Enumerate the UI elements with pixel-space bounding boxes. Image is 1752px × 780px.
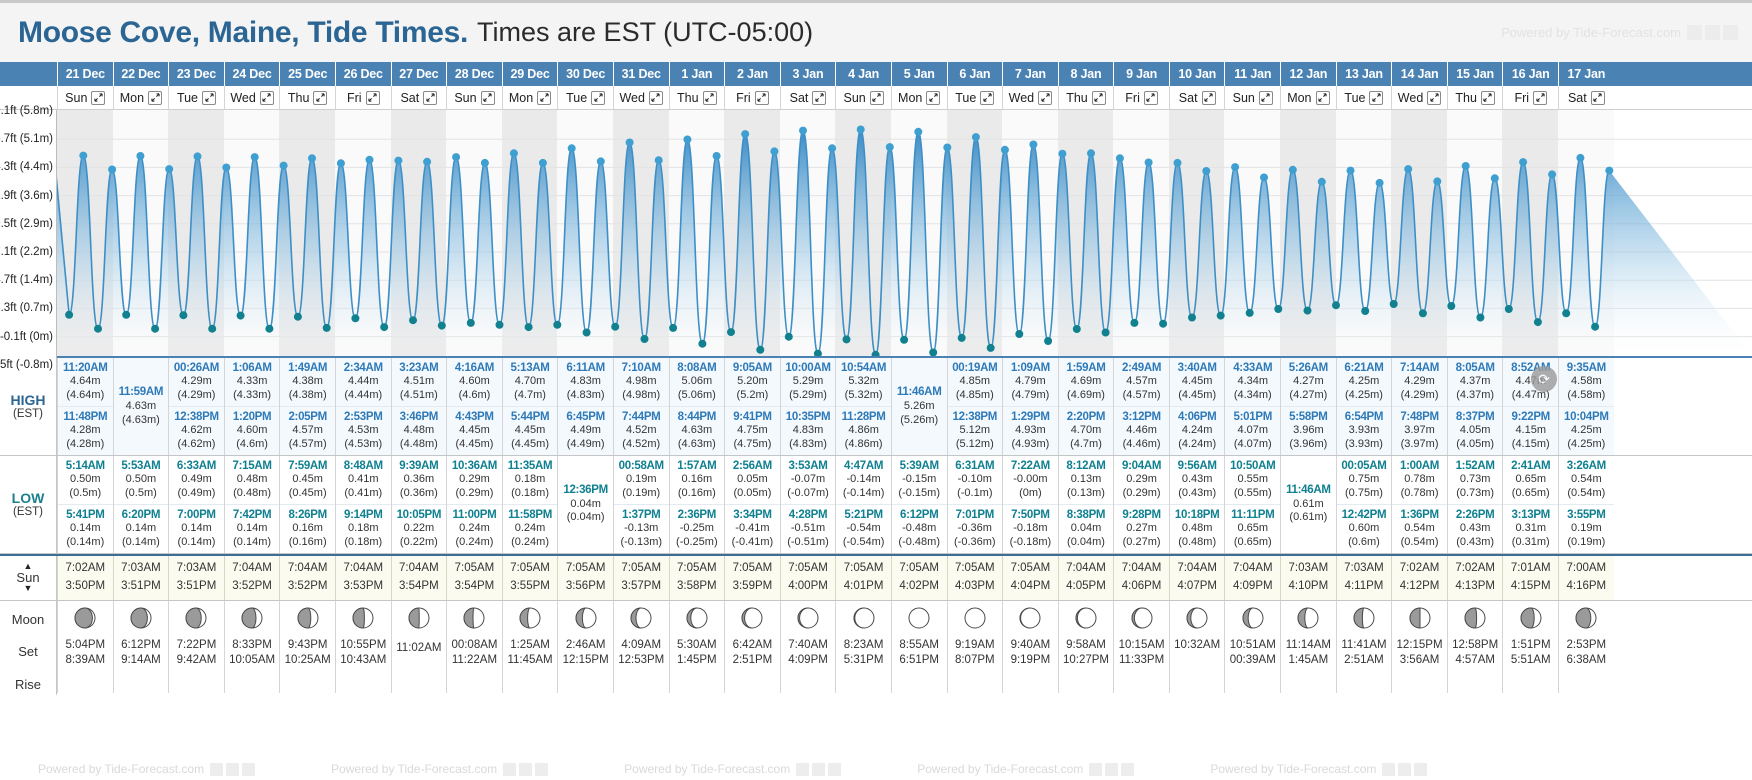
moon-phase-icon	[1131, 607, 1153, 632]
high-tide-time: 5:58PM	[1282, 410, 1335, 424]
low-tide-height-alt: (0.65m)	[1504, 487, 1557, 501]
low-tide-column[interactable]: 4:47AM-0.14m(-0.14m)5:21PM-0.54m(-0.54m)	[835, 456, 891, 553]
day-header-cell[interactable]: Sat	[780, 86, 836, 109]
date-header-cell[interactable]: 28 Dec	[446, 62, 502, 86]
high-tide-entry: 5:26AM4.27m(4.27m)	[1281, 358, 1336, 406]
expand-icon[interactable]	[1038, 91, 1052, 105]
low-tide-entry: 3:53AM-0.07m(-0.07m)	[781, 456, 836, 504]
high-tide-entry: 5:01PM4.07m(4.07m)	[1225, 406, 1280, 455]
sunrise-time: 7:05AM	[677, 560, 717, 578]
high-tide-entry: 6:54PM3.93m(3.93m)	[1337, 406, 1392, 455]
day-name-label: Thu	[677, 91, 699, 105]
high-tide-height-alt: (4.6m)	[448, 389, 501, 403]
moon-column: 9:43PM10:25AM	[279, 601, 335, 693]
date-header-cell[interactable]: 30 Dec	[557, 62, 613, 86]
high-tide-time: 11:48PM	[59, 410, 112, 424]
low-tide-column[interactable]: 7:15AM0.48m(0.48m)7:42PM0.14m(0.14m)	[224, 456, 280, 553]
moon-column: 10:51AM00:39AM	[1224, 601, 1280, 693]
footer-badge-m-icon	[503, 763, 516, 776]
high-tide-column[interactable]: 7:14AM4.29m(4.29m)7:48PM3.97m(3.97m)	[1391, 358, 1447, 455]
day-header-cell[interactable]: Thu	[1058, 86, 1114, 109]
expand-icon[interactable]	[366, 91, 380, 105]
high-tide-height: 4.49m	[559, 424, 612, 438]
expand-icon[interactable]	[260, 91, 274, 105]
expand-icon[interactable]	[649, 91, 663, 105]
low-tide-column[interactable]: 6:31AM-0.10m(-0.1m)7:01PM-0.36m(-0.36m)	[947, 456, 1003, 553]
day-header-cell[interactable]: Sun	[57, 86, 113, 109]
day-header-cell[interactable]: Tue	[947, 86, 1003, 109]
day-header-cell[interactable]: Wed	[224, 86, 280, 109]
low-tide-column[interactable]: 9:04AM0.29m(0.29m)9:28PM0.27m(0.27m)	[1113, 456, 1169, 553]
high-tide-time: 8:08AM	[671, 361, 724, 375]
low-tide-column[interactable]: 5:39AM-0.15m(-0.15m)6:12PM-0.48m(-0.48m)	[891, 456, 947, 553]
low-tide-column[interactable]: 12:36PM0.04m(0.04m)	[557, 456, 613, 553]
low-tide-height: 0.16m	[281, 522, 334, 536]
high-tide-column[interactable]: 3:40AM4.45m(4.45m)4:06PM4.24m(4.24m)	[1169, 358, 1225, 455]
day-header-cell[interactable]: Sat	[1558, 86, 1614, 109]
low-tide-entry: 10:50AM0.55m(0.55m)	[1225, 456, 1280, 504]
expand-icon[interactable]	[591, 91, 605, 105]
high-tide-time: 1:59AM	[1060, 361, 1113, 375]
high-tide-marker	[1087, 149, 1095, 157]
sunset-time: 4:10PM	[1289, 578, 1329, 596]
high-tide-column[interactable]: 6:21AM4.25m(4.25m)6:54PM3.93m(3.93m)	[1336, 358, 1392, 455]
low-tide-column[interactable]: 1:52AM0.73m(0.73m)2:26PM0.43m(0.43m)	[1447, 456, 1503, 553]
high-tide-marker	[1548, 170, 1556, 178]
day-header-cell[interactable]: Mon	[1280, 86, 1336, 109]
day-header-cell[interactable]: Mon	[891, 86, 947, 109]
day-header-cell[interactable]: Thu	[669, 86, 725, 109]
day-header-cell[interactable]: Sun	[835, 86, 891, 109]
high-tide-height-alt: (4.83m)	[559, 389, 612, 403]
sun-column: 7:04AM3:52PM	[279, 556, 335, 600]
date-header-cell[interactable]: 7 Jan	[1002, 62, 1058, 86]
moon-column: 12:15PM3:56AM	[1391, 601, 1447, 693]
sunrise-time: 7:03AM	[1289, 560, 1329, 578]
high-tide-column[interactable]: 6:11AM4.83m(4.83m)6:45PM4.49m(4.49m)	[557, 358, 613, 455]
high-tide-height: 4.24m	[1171, 424, 1224, 438]
low-tide-column[interactable]: 6:33AM0.49m(0.49m)7:00PM0.14m(0.14m)	[168, 456, 224, 553]
high-label: HIGH	[11, 392, 46, 408]
low-tide-marker	[1419, 309, 1427, 317]
high-tide-height: 4.07m	[1226, 424, 1279, 438]
date-header-cell[interactable]: 31 Dec	[613, 62, 669, 86]
high-tide-marker	[366, 156, 374, 164]
date-header-cell[interactable]: 2 Jan	[724, 62, 780, 86]
moonset-time: 7:40AM	[788, 639, 828, 651]
low-tide-column[interactable]: 3:26AM0.54m(0.54m)3:55PM0.19m(0.19m)	[1558, 456, 1614, 553]
day-name-label: Thu	[1066, 91, 1088, 105]
low-tide-marker	[94, 325, 102, 333]
moon-column: 8:33PM10:05AM	[224, 601, 280, 693]
high-tide-column[interactable]: 3:23AM4.51m(4.51m)3:46PM4.48m(4.48m)	[391, 358, 447, 455]
high-tide-height: 4.70m	[1060, 424, 1113, 438]
sun-column: 7:04AM4:06PM	[1113, 556, 1169, 600]
high-tide-height: 4.70m	[504, 375, 557, 389]
high-tide-height: 4.33m	[226, 375, 279, 389]
date-header-cell[interactable]: 17 Jan	[1558, 62, 1614, 86]
moon-column: 1:51PM5:51AM	[1502, 601, 1558, 693]
expand-icon[interactable]	[537, 91, 551, 105]
day-header-cell[interactable]: Fri	[335, 86, 391, 109]
low-tide-time: 5:21PM	[837, 508, 890, 522]
low-tide-column[interactable]: 8:12AM0.13m(0.13m)8:38PM0.04m(0.04m)	[1058, 456, 1114, 553]
high-tide-entry: 5:44PM4.45m(4.45m)	[503, 406, 558, 455]
low-tide-column[interactable]: 2:56AM0.05m(0.05m)3:34PM-0.41m(-0.41m)	[724, 456, 780, 553]
sunrise-time: 7:05AM	[899, 560, 939, 578]
expand-icon[interactable]	[1591, 91, 1605, 105]
date-header-cell[interactable]: 15 Jan	[1447, 62, 1503, 86]
high-tide-marker	[1433, 177, 1441, 185]
sunrise-time: 7:05AM	[621, 560, 661, 578]
high-tide-height-alt: (4.45m)	[1171, 389, 1224, 403]
moonrise-time: 9:19PM	[1011, 654, 1051, 666]
expand-icon[interactable]	[313, 91, 327, 105]
low-tide-column[interactable]: 00:05AM0.75m(0.75m)12:42PM0.60m(0.6m)	[1336, 456, 1392, 553]
low-tide-height-alt: (0.43m)	[1171, 487, 1224, 501]
low-tide-height-alt: (0.75m)	[1338, 487, 1391, 501]
moonrise-time: 11:45AM	[507, 654, 552, 666]
moon-column: 2:53PM6:38AM	[1558, 601, 1614, 693]
date-header-cell[interactable]: 9 Jan	[1113, 62, 1169, 86]
low-tide-entry: 5:41PM0.14m(0.14m)	[58, 504, 113, 553]
high-tide-marker	[251, 153, 259, 161]
high-tide-time: 6:54PM	[1338, 410, 1391, 424]
footer-badge-m-icon	[1089, 763, 1102, 776]
low-tide-marker	[1188, 314, 1196, 322]
day-name-label: Wed	[619, 91, 644, 105]
low-tide-column[interactable]: 3:53AM-0.07m(-0.07m)4:28PM-0.51m(-0.51m)	[780, 456, 836, 553]
low-tide-time: 1:52AM	[1449, 459, 1502, 473]
moon-phase-icon	[1242, 607, 1264, 632]
moon-column: 2:46AM12:15PM	[557, 601, 613, 693]
low-tide-entry: 8:38PM0.04m(0.04m)	[1059, 504, 1114, 553]
low-tide-column[interactable]: 1:57AM0.16m(0.16m)2:36PM-0.25m(-0.25m)	[669, 456, 725, 553]
high-tide-column[interactable]: 7:10AM4.98m(4.98m)7:44PM4.52m(4.52m)	[613, 358, 669, 455]
high-tide-column[interactable]: 10:54AM5.32m(5.32m)11:28PM4.86m(4.86m)	[835, 358, 891, 455]
high-tide-entry: 7:14AM4.29m(4.29m)	[1392, 358, 1447, 406]
high-tide-entry: 2:49AM4.57m(4.57m)	[1114, 358, 1169, 406]
expand-icon[interactable]	[1427, 91, 1441, 105]
moonrise-time: 10:25AM	[285, 654, 331, 666]
high-tide-column[interactable]: 8:05AM4.37m(4.37m)8:37PM4.05m(4.05m)	[1447, 358, 1503, 455]
high-tide-time: 9:41PM	[726, 410, 779, 424]
expand-icon[interactable]	[1369, 91, 1383, 105]
low-tide-height-alt: (-0.41m)	[726, 536, 779, 550]
high-tide-height: 4.62m	[170, 424, 223, 438]
moon-phase-icon	[408, 607, 430, 632]
sunrise-time: 7:03AM	[177, 560, 217, 578]
date-header-cell[interactable]: 27 Dec	[391, 62, 447, 86]
footer-badge-a-icon	[828, 763, 841, 776]
sun-column: 7:05AM3:55PM	[502, 556, 558, 600]
day-header-cell[interactable]: Fri	[724, 86, 780, 109]
high-tide-column[interactable]: 10:00AM5.29m(5.29m)10:35PM4.83m(4.83m)	[780, 358, 836, 455]
low-tide-time: 1:57AM	[671, 459, 724, 473]
high-tide-entry: 8:05AM4.37m(4.37m)	[1448, 358, 1503, 406]
date-header-cell[interactable]: 13 Jan	[1336, 62, 1392, 86]
moon-column: 7:22PM9:42AM	[168, 601, 224, 693]
expand-icon[interactable]	[202, 91, 216, 105]
low-tide-height-alt: (-0.1m)	[949, 487, 1002, 501]
low-tide-marker	[553, 321, 561, 329]
expand-icon[interactable]	[980, 91, 994, 105]
moonset-time: 8:33PM	[232, 639, 272, 651]
high-tide-entry: 3:46PM4.48m(4.48m)	[392, 406, 447, 455]
low-tide-height-alt: (0.14m)	[115, 536, 168, 550]
date-header-cell[interactable]: 12 Jan	[1280, 62, 1336, 86]
date-header-cell[interactable]: 29 Dec	[502, 62, 558, 86]
day-header-cell[interactable]: Tue	[1336, 86, 1392, 109]
low-tide-time: 12:36PM	[559, 483, 612, 497]
day-header-cell[interactable]: Sun	[446, 86, 502, 109]
low-tide-time: 9:39AM	[393, 459, 446, 473]
high-tide-column[interactable]: 11:59AM4.63m(4.63m)	[113, 358, 169, 455]
high-tide-time: 8:44PM	[671, 410, 724, 424]
day-header-cell[interactable]: Sat	[1169, 86, 1225, 109]
sunset-time: 3:51PM	[121, 578, 161, 596]
expand-icon[interactable]	[1144, 91, 1158, 105]
sun-set-arrow-icon: ▼	[24, 585, 33, 592]
high-tide-time: 00:26AM	[170, 361, 223, 375]
sunset-time: 4:02PM	[899, 578, 939, 596]
high-tide-marker	[222, 164, 230, 172]
day-header-cell[interactable]: Wed	[613, 86, 669, 109]
footer-badge-m-icon	[210, 763, 223, 776]
high-tide-height-alt: (4.37m)	[1449, 389, 1502, 403]
moon-column: 6:42AM2:51PM	[724, 601, 780, 693]
expand-icon[interactable]	[1533, 91, 1547, 105]
high-tide-column[interactable]: 4:33AM4.34m(4.34m)5:01PM4.07m(4.07m)	[1224, 358, 1280, 455]
low-tide-height: 0.18m	[337, 522, 390, 536]
low-tide-height: 0.27m	[1115, 522, 1168, 536]
high-tide-column[interactable]: 5:26AM4.27m(4.27m)5:58PM3.96m(3.96m)	[1280, 358, 1336, 455]
date-header-cell[interactable]: 10 Jan	[1169, 62, 1225, 86]
sunset-time: 4:05PM	[1066, 578, 1106, 596]
expand-icon[interactable]	[91, 91, 105, 105]
high-tide-column[interactable]: 8:08AM5.06m(5.06m)8:44PM4.63m(4.63m)	[669, 358, 725, 455]
high-tide-marker	[597, 157, 605, 165]
high-tide-column[interactable]: 00:26AM4.29m(4.29m)12:38PM4.62m(4.62m)	[168, 358, 224, 455]
sunrise-time: 7:02AM	[1455, 560, 1495, 578]
low-tide-column[interactable]: 1:00AM0.78m(0.78m)1:36PM0.54m(0.54m)	[1391, 456, 1447, 553]
low-tide-column[interactable]: 10:50AM0.55m(0.55m)11:11PM0.65m(0.65m)	[1224, 456, 1280, 553]
low-tide-time: 3:53AM	[782, 459, 835, 473]
day-header-cell[interactable]: Tue	[557, 86, 613, 109]
low-tide-height: 0.50m	[59, 473, 112, 487]
expand-icon[interactable]	[926, 91, 940, 105]
day-header-cell[interactable]: Fri	[1502, 86, 1558, 109]
high-tide-column[interactable]: 1:49AM4.38m(4.38m)2:05PM4.57m(4.57m)	[279, 358, 335, 455]
high-tide-column[interactable]: 1:09AM4.79m(4.79m)1:29PM4.93m(4.93m)	[1002, 358, 1058, 455]
low-tide-time: 2:36PM	[671, 508, 724, 522]
expand-icon[interactable]	[755, 91, 769, 105]
high-tide-entry: 10:54AM5.32m(5.32m)	[836, 358, 891, 406]
high-tide-time: 10:35PM	[782, 410, 835, 424]
expand-icon[interactable]	[148, 91, 162, 105]
low-tide-column[interactable]: 11:35AM0.18m(0.18m)11:58PM0.24m(0.24m)	[502, 456, 558, 553]
date-header-cell[interactable]: 25 Dec	[279, 62, 335, 86]
high-tide-column[interactable]: 5:13AM4.70m(4.7m)5:44PM4.45m(4.45m)	[502, 358, 558, 455]
sun-column: 7:03AM3:51PM	[168, 556, 224, 600]
low-tide-marker	[756, 346, 764, 354]
date-header-cell[interactable]: 1 Jan	[669, 62, 725, 86]
low-tide-column[interactable]: 9:56AM0.43m(0.43m)10:18PM0.48m(0.48m)	[1169, 456, 1225, 553]
day-header-cell[interactable]: Sun	[1224, 86, 1280, 109]
high-tide-column[interactable]: 4:16AM4.60m(4.6m)4:43PM4.45m(4.45m)	[446, 358, 502, 455]
date-header-cell[interactable]: 11 Jan	[1224, 62, 1280, 86]
high-tide-height-alt: (4.52m)	[615, 438, 668, 452]
date-header-cell[interactable]: 8 Jan	[1058, 62, 1114, 86]
date-header-cell[interactable]: 23 Dec	[168, 62, 224, 86]
low-tide-marker	[438, 322, 446, 330]
low-tide-column[interactable]: 5:14AM0.50m(0.5m)5:41PM0.14m(0.14m)	[57, 456, 113, 553]
date-header-cell[interactable]: 6 Jan	[947, 62, 1003, 86]
low-tide-entry: 11:00PM0.24m(0.24m)	[447, 504, 502, 553]
low-tide-column[interactable]: 7:59AM0.45m(0.45m)8:26PM0.16m(0.16m)	[279, 456, 335, 553]
sun-column: 7:02AM3:50PM	[57, 556, 113, 600]
expand-icon[interactable]	[1316, 91, 1330, 105]
low-tide-column[interactable]: 7:22AM-0.00m(0m)7:50PM-0.18m(-0.18m)	[1002, 456, 1058, 553]
high-tide-height-alt: (4.57m)	[1115, 389, 1168, 403]
high-tide-height-alt: (5.26m)	[893, 414, 946, 428]
high-tide-column[interactable]: 9:05AM5.20m(5.2m)9:41PM4.75m(4.75m)	[724, 358, 780, 455]
high-tide-height: 4.83m	[559, 375, 612, 389]
day-header-cell[interactable]: Wed	[1391, 86, 1447, 109]
high-tide-height: 4.52m	[615, 424, 668, 438]
high-tide-marker	[165, 165, 173, 173]
high-tide-height-alt: (4.53m)	[337, 438, 390, 452]
date-header-cell[interactable]: 16 Jan	[1502, 62, 1558, 86]
high-tide-column[interactable]: 2:34AM4.44m(4.44m)2:53PM4.53m(4.53m)	[335, 358, 391, 455]
low-tide-column[interactable]: 10:36AM0.29m(0.29m)11:00PM0.24m(0.24m)	[446, 456, 502, 553]
high-tide-height-alt: (4.63m)	[671, 438, 724, 452]
sunrise-time: 7:01AM	[1511, 560, 1551, 578]
date-header-cell[interactable]: 22 Dec	[113, 62, 169, 86]
low-tide-time: 8:26PM	[281, 508, 334, 522]
high-tide-time: 00:19AM	[949, 361, 1002, 375]
high-tide-entry: 4:06PM4.24m(4.24m)	[1170, 406, 1225, 455]
high-tide-column[interactable]: 00:19AM4.85m(4.85m)12:38PM5.12m(5.12m)	[947, 358, 1003, 455]
low-tide-column[interactable]: 2:41AM0.65m(0.65m)3:13PM0.31m(0.31m)	[1502, 456, 1558, 553]
expand-icon[interactable]	[703, 91, 717, 105]
low-tide-height-alt: (0.49m)	[170, 487, 223, 501]
high-tide-marker	[828, 144, 836, 152]
high-tide-height-alt: (5.29m)	[782, 389, 835, 403]
expand-icon[interactable]	[1259, 91, 1273, 105]
low-tide-entry: 5:39AM-0.15m(-0.15m)	[892, 456, 947, 504]
loading-spinner-icon: ⟳	[1531, 366, 1557, 392]
high-tide-column[interactable]: 11:20AM4.64m(4.64m)11:48PM4.28m(4.28m)	[57, 358, 113, 455]
high-tide-height: 4.86m	[837, 424, 890, 438]
low-tide-marker	[785, 333, 793, 341]
sunset-time: 4:01PM	[844, 578, 884, 596]
low-tide-marker	[294, 313, 302, 321]
date-header-cell[interactable]: 24 Dec	[224, 62, 280, 86]
low-tide-height-alt: (-0.36m)	[949, 536, 1002, 550]
high-tide-height: 4.79m	[1004, 375, 1057, 389]
high-tide-marker	[481, 159, 489, 167]
low-tide-height: 0.19m	[1560, 522, 1613, 536]
low-tide-time: 1:36PM	[1393, 508, 1446, 522]
expand-icon[interactable]	[423, 91, 437, 105]
high-tide-column[interactable]: 2:49AM4.57m(4.57m)3:12PM4.46m(4.46m)	[1113, 358, 1169, 455]
day-header-cell[interactable]: Wed	[1002, 86, 1058, 109]
high-tide-entry: 00:26AM4.29m(4.29m)	[169, 358, 224, 406]
date-header-cell[interactable]: 26 Dec	[335, 62, 391, 86]
expand-icon[interactable]	[481, 91, 495, 105]
low-tide-time: 7:00PM	[170, 508, 223, 522]
sunset-time: 3:56PM	[566, 578, 606, 596]
low-tide-height: -0.00m	[1004, 473, 1057, 487]
expand-icon[interactable]	[812, 91, 826, 105]
day-header-cell[interactable]: Tue	[168, 86, 224, 109]
low-tide-height-alt: (0.19m)	[615, 487, 668, 501]
low-tide-time: 7:22AM	[1004, 459, 1057, 473]
day-header-cell[interactable]: Mon	[113, 86, 169, 109]
low-tide-time: 6:20PM	[115, 508, 168, 522]
expand-icon[interactable]	[1481, 91, 1495, 105]
high-tide-column[interactable]: 11:46AM5.26m(5.26m)	[891, 358, 947, 455]
sunrise-time: 7:05AM	[844, 560, 884, 578]
low-tide-time: 11:58PM	[504, 508, 557, 522]
moon-column: 5:30AM1:45PM	[669, 601, 725, 693]
date-header-cell[interactable]: 4 Jan	[835, 62, 891, 86]
low-tide-height-alt: (0.73m)	[1449, 487, 1502, 501]
high-tide-column[interactable]: 1:06AM4.33m(4.33m)1:20PM4.60m(4.6m)	[224, 358, 280, 455]
date-header-cell[interactable]: 5 Jan	[891, 62, 947, 86]
day-header-cell[interactable]: Mon	[502, 86, 558, 109]
low-tide-marker	[1073, 325, 1081, 333]
low-tide-column[interactable]: 8:48AM0.41m(0.41m)9:14PM0.18m(0.18m)	[335, 456, 391, 553]
high-tide-column[interactable]: 9:35AM4.58m(4.58m)10:04PM4.25m(4.25m)	[1558, 358, 1614, 455]
expand-icon[interactable]	[1092, 91, 1106, 105]
low-tide-entry: 1:57AM0.16m(0.16m)	[670, 456, 725, 504]
date-header-cell[interactable]: 14 Jan	[1391, 62, 1447, 86]
moonset-time: 7:22PM	[177, 639, 217, 651]
low-tide-time: 00:58AM	[615, 459, 668, 473]
sun-row-label: ▲ Sun ▼	[0, 556, 57, 600]
low-tide-column[interactable]: 9:39AM0.36m(0.36m)10:05PM0.22m(0.22m)	[391, 456, 447, 553]
moon-row-label: Moon Set Rise	[0, 601, 57, 696]
moon-phase-icon	[686, 607, 708, 632]
low-tide-height: 0.36m	[393, 473, 446, 487]
high-tide-column[interactable]: 1:59AM4.69m(4.69m)2:20PM4.70m(4.7m)	[1058, 358, 1114, 455]
low-tide-marker	[151, 325, 159, 333]
low-tide-column[interactable]: 5:53AM0.50m(0.5m)6:20PM0.14m(0.14m)	[113, 456, 169, 553]
date-header-cell[interactable]: 3 Jan	[780, 62, 836, 86]
low-tide-height: 0.78m	[1393, 473, 1446, 487]
low-tide-entry: 1:52AM0.73m(0.73m)	[1448, 456, 1503, 504]
expand-icon[interactable]	[1202, 91, 1216, 105]
day-header-cell[interactable]: Sat	[391, 86, 447, 109]
day-header-cell[interactable]: Thu	[279, 86, 335, 109]
low-tide-time: 1:00AM	[1393, 459, 1446, 473]
day-name-label: Mon	[509, 91, 533, 105]
low-tide-height-alt: (0.14m)	[226, 536, 279, 550]
high-tide-height-alt: (4.24m)	[1171, 438, 1224, 452]
low-tide-height-alt: (0.61m)	[1282, 511, 1335, 525]
day-header-cell[interactable]: Thu	[1447, 86, 1503, 109]
expand-icon[interactable]	[870, 91, 884, 105]
date-header-cell[interactable]: 21 Dec	[57, 62, 113, 86]
low-tide-column[interactable]: 11:46AM0.61m(0.61m)	[1280, 456, 1336, 553]
date-header-row: 21 Dec22 Dec23 Dec24 Dec25 Dec26 Dec27 D…	[0, 62, 1752, 86]
sun-section: ▲ Sun ▼ 7:02AM3:50PM7:03AM3:51PM7:03AM3:…	[0, 554, 1752, 601]
day-header-cell[interactable]: Fri	[1113, 86, 1169, 109]
low-tide-column[interactable]: 00:58AM0.19m(0.19m)1:37PM-0.13m(-0.13m)	[613, 456, 669, 553]
badge-m-icon	[1687, 25, 1702, 40]
